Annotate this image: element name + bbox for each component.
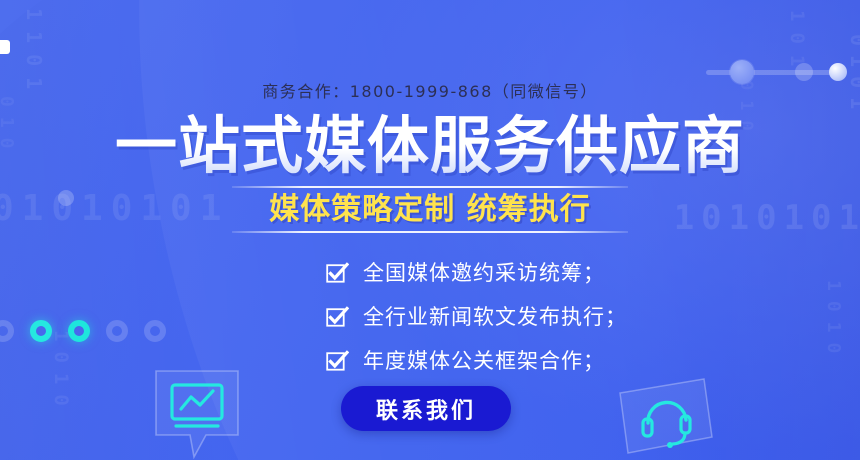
banner-content: 商务合作：1800-1999-868（同微信号） 一站式媒体服务供应商 媒体策略… [0, 0, 860, 460]
checkbox-checked-icon [326, 262, 347, 283]
list-item: 全行业新闻软文发布执行； [326, 296, 627, 336]
promotional-banner: 1010101 0101 101 010 1010 01010101 1101 … [0, 0, 860, 460]
contact-us-button[interactable]: 联系我们 [341, 386, 511, 431]
divider-bottom [232, 231, 628, 233]
feature-list: 全国媒体邀约采访统筹； 全行业新闻软文发布执行； [326, 252, 627, 384]
list-item: 全国媒体邀约采访统筹； [326, 252, 627, 292]
list-item: 年度媒体公关框架合作； [326, 340, 627, 380]
list-item-label: 全国媒体邀约采访统筹； [363, 257, 605, 287]
checkbox-checked-icon [326, 306, 347, 327]
list-item-label: 年度媒体公关框架合作； [363, 345, 605, 375]
contact-line: 商务合作：1800-1999-868（同微信号） [0, 78, 860, 102]
subtitle-block: 媒体策略定制 统筹执行 [232, 186, 628, 233]
checkbox-checked-icon [326, 350, 347, 371]
list-item-label: 全行业新闻软文发布执行； [363, 301, 627, 331]
page-title: 一站式媒体服务供应商 [0, 113, 860, 179]
subtitle: 媒体策略定制 统筹执行 [232, 188, 628, 231]
